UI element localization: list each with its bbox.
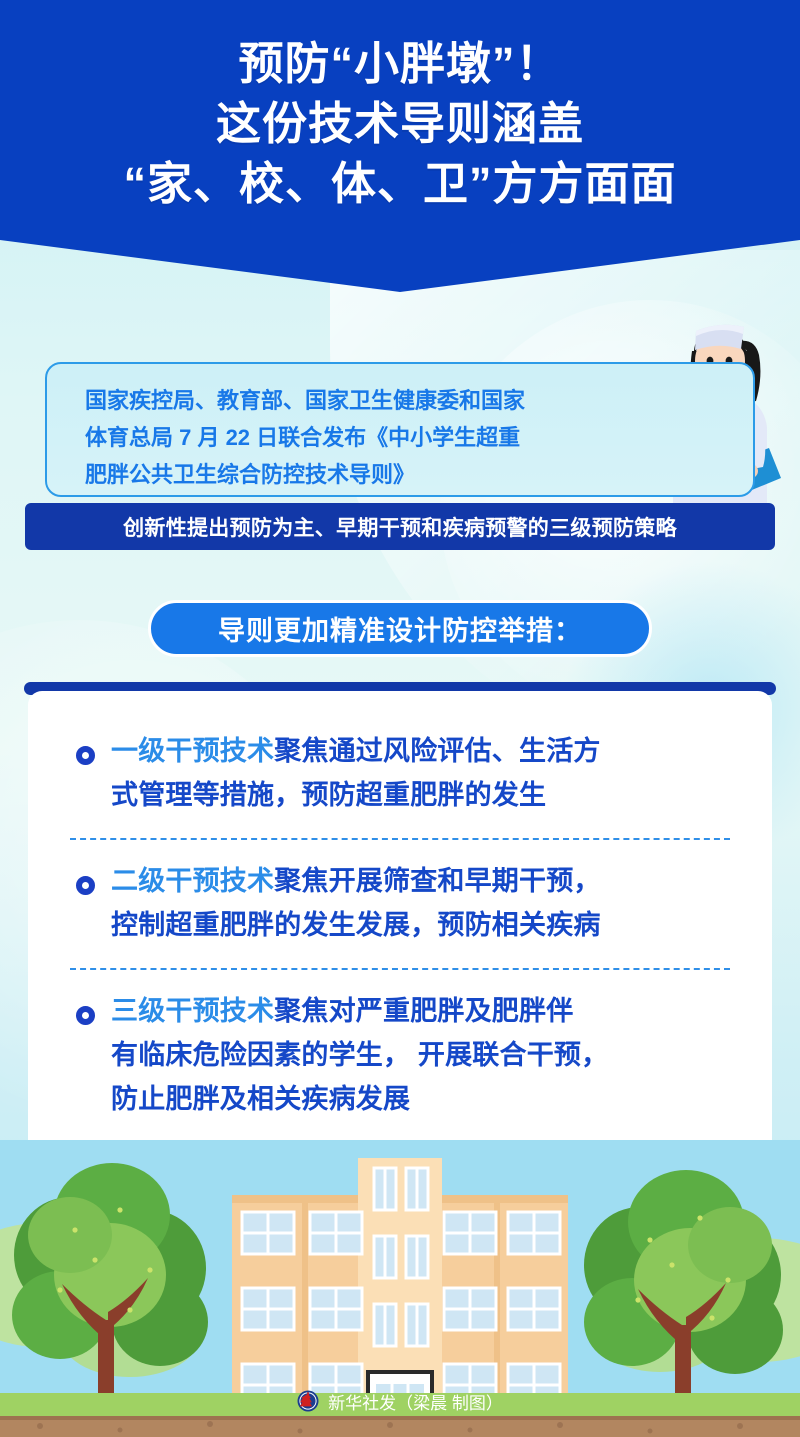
section-heading-pill: 导则更加精准设计防控举措： bbox=[148, 600, 652, 657]
announcement-line-1: 国家疾控局、教育部、国家卫生健康委和国家 bbox=[85, 382, 645, 419]
footer-credit: 新华社发（梁晨 制图） bbox=[0, 1386, 800, 1416]
measure-line: 一级干预技术聚焦通过风险评估、生活方 bbox=[111, 729, 601, 773]
measure-text: 三级干预技术聚焦对严重肥胖及肥胖伴 有临床危险因素的学生， 开展联合干预， 防止… bbox=[111, 989, 608, 1121]
announcement-line-2: 体育总局 7 月 22 日联合发布《中小学生超重 bbox=[85, 419, 645, 456]
title-line-2: 这份技术导则涵盖 bbox=[0, 94, 800, 154]
measure-body-3: 防止肥胖及相关疾病发展 bbox=[111, 1077, 608, 1121]
measure-lead: 二级干预技术 bbox=[111, 866, 274, 896]
measure-body-1: 聚焦通过风险评估、生活方 bbox=[274, 736, 600, 766]
bullet-icon bbox=[76, 1006, 95, 1025]
measure-body-1: 聚焦对严重肥胖及肥胖伴 bbox=[274, 996, 573, 1026]
measures-list: 一级干预技术聚焦通过风险评估、生活方 式管理等措施，预防超重肥胖的发生 二级干预… bbox=[28, 691, 772, 1121]
measure-text: 二级干预技术聚焦开展筛查和早期干预， 控制超重肥胖的发生发展，预防相关疾病 bbox=[111, 859, 601, 947]
infographic-poster: 预防“小胖墩”！ 这份技术导则涵盖 “家、校、体、卫”方方面面 bbox=[0, 0, 800, 1437]
list-divider bbox=[70, 838, 730, 840]
bullet-icon bbox=[76, 746, 95, 765]
measure-line: 二级干预技术聚焦开展筛查和早期干预， bbox=[111, 859, 601, 903]
list-item: 二级干预技术聚焦开展筛查和早期干预， 控制超重肥胖的发生发展，预防相关疾病 bbox=[28, 859, 772, 947]
highlight-strip: 创新性提出预防为主、早期干预和疾病预警的三级预防策略 bbox=[25, 503, 775, 550]
page-title: 预防“小胖墩”！ 这份技术导则涵盖 “家、校、体、卫”方方面面 bbox=[0, 34, 800, 214]
measure-lead: 三级干预技术 bbox=[111, 996, 274, 1026]
announcement-text: 国家疾控局、教育部、国家卫生健康委和国家 体育总局 7 月 22 日联合发布《中… bbox=[85, 382, 645, 493]
measure-lead: 一级干预技术 bbox=[111, 736, 274, 766]
title-line-1: 预防“小胖墩”！ bbox=[0, 34, 800, 94]
measure-body-2: 控制超重肥胖的发生发展，预防相关疾病 bbox=[111, 903, 601, 947]
title-line-3: “家、校、体、卫”方方面面 bbox=[0, 154, 800, 214]
list-item: 三级干预技术聚焦对严重肥胖及肥胖伴 有临床危险因素的学生， 开展联合干预， 防止… bbox=[28, 989, 772, 1121]
measure-body-2: 式管理等措施，预防超重肥胖的发生 bbox=[111, 773, 601, 817]
list-divider bbox=[70, 968, 730, 970]
measure-text: 一级干预技术聚焦通过风险评估、生活方 式管理等措施，预防超重肥胖的发生 bbox=[111, 729, 601, 817]
list-item: 一级干预技术聚焦通过风险评估、生活方 式管理等措施，预防超重肥胖的发生 bbox=[28, 691, 772, 817]
measure-body-1: 聚焦开展筛查和早期干预， bbox=[274, 866, 600, 896]
measure-body-2: 有临床危险因素的学生， 开展联合干预， bbox=[111, 1033, 608, 1077]
credit-text: 新华社发（梁晨 制图） bbox=[328, 1389, 503, 1414]
xinhua-logo-icon bbox=[297, 1390, 319, 1412]
measure-line: 三级干预技术聚焦对严重肥胖及肥胖伴 bbox=[111, 989, 608, 1033]
bullet-icon bbox=[76, 876, 95, 895]
announcement-line-3: 肥胖公共卫生综合防控技术导则》 bbox=[85, 456, 645, 493]
